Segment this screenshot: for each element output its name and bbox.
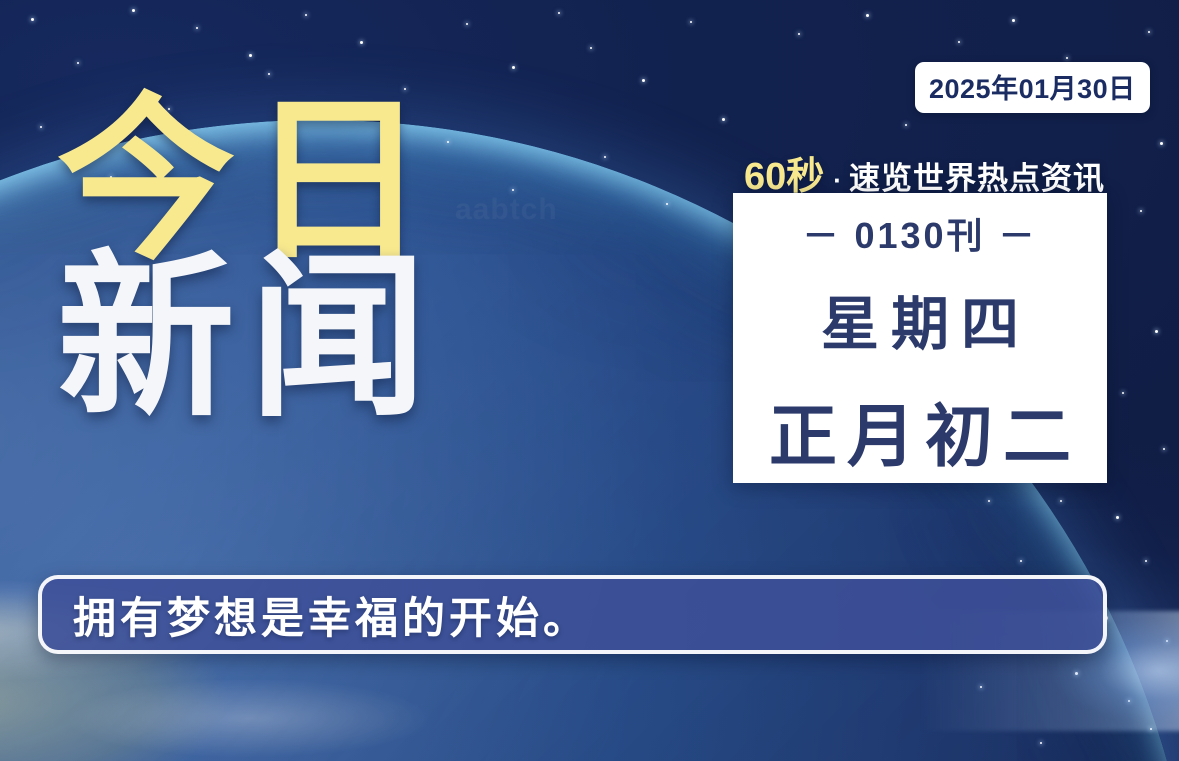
weekday-label: 星期四	[809, 277, 1031, 361]
title-line-news: 新闻	[57, 253, 477, 424]
quote-text: 拥有梦想是幸福的开始。	[42, 584, 590, 646]
tagline-seconds: 60秒	[744, 145, 824, 200]
poster-title: 今日 新闻	[57, 96, 477, 424]
issue-number: － 0130刊 －	[802, 207, 1037, 259]
news-poster: aabtch 今日 新闻 2025年01月30日 60秒 · 速览世界热点资讯 …	[0, 0, 1179, 761]
tagline-text: 速览世界热点资讯	[849, 153, 1105, 198]
tagline-separator: ·	[833, 165, 842, 196]
lunar-date-label: 正月初二	[759, 381, 1081, 480]
issue-info-card: － 0130刊 － 星期四 正月初二	[733, 193, 1107, 483]
quote-banner: 拥有梦想是幸福的开始。	[38, 575, 1107, 654]
tagline: 60秒 · 速览世界热点资讯	[744, 145, 1105, 200]
date-badge: 2025年01月30日	[915, 62, 1150, 113]
